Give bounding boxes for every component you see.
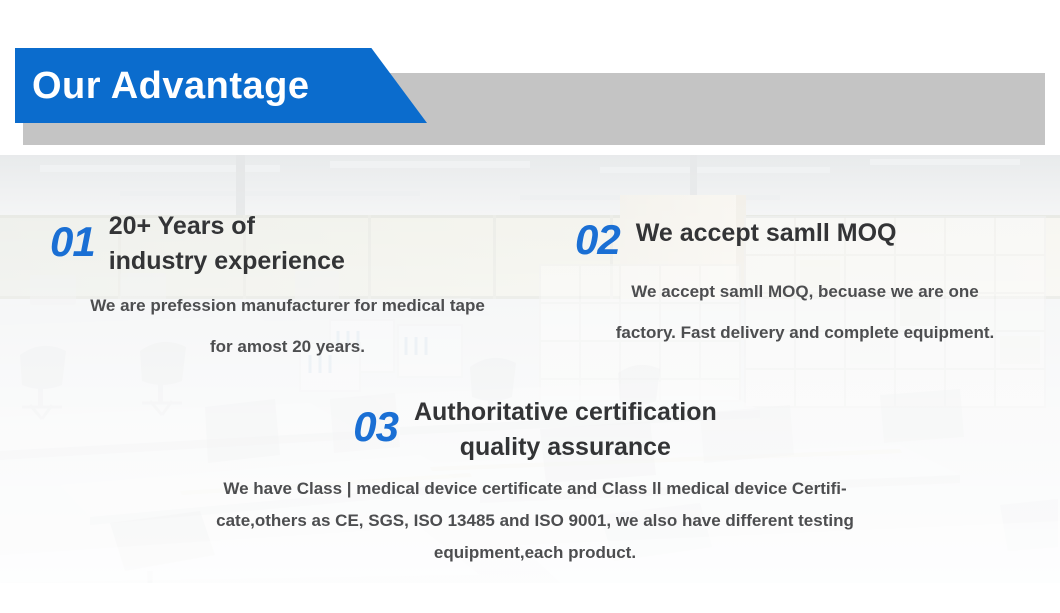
advantage-03-heading: Authoritative certification quality assu…: [414, 390, 717, 465]
advantage-02-body-line-1: We accept samll MOQ, becuase we are one: [575, 271, 1035, 312]
advantage-02-body: We accept samll MOQ, becuase we are one …: [575, 271, 1035, 353]
advantage-01-header: 01 20+ Years of industry experience: [50, 205, 525, 279]
advantage-content: 01 20+ Years of industry experience We a…: [0, 155, 1060, 583]
advantage-01-heading-line-1: 20+ Years of: [109, 209, 345, 244]
advantage-02-number: 02: [575, 219, 620, 261]
advantage-03-body-line-3: equipment,each product.: [140, 537, 930, 569]
advantage-03-number: 03: [353, 406, 398, 448]
advantage-page: Our Advantage: [0, 0, 1060, 613]
advantage-03-heading-line-1: Authoritative certification: [414, 395, 717, 430]
advantage-item-02: 02 We accept samll MOQ We accept samll M…: [575, 205, 1035, 353]
advantage-01-number: 01: [50, 221, 95, 263]
advantage-item-01: 01 20+ Years of industry experience We a…: [50, 205, 525, 367]
advantage-02-heading-line-1: We accept samll MOQ: [636, 216, 897, 251]
advantage-03-body: We have Class | medical device certifica…: [140, 473, 930, 569]
advantage-03-header: 03 Authoritative certification quality a…: [140, 390, 930, 465]
advantage-02-heading: We accept samll MOQ: [636, 205, 897, 251]
advantage-item-03: 03 Authoritative certification quality a…: [140, 390, 930, 569]
section-header: Our Advantage: [0, 0, 1060, 155]
advantage-03-heading-line-2: quality assurance: [414, 430, 717, 465]
advantage-01-body-line-2: for amost 20 years.: [50, 326, 525, 367]
advantage-01-heading-line-2: industry experience: [109, 244, 345, 279]
advantage-03-body-line-2: cate,others as CE, SGS, ISO 13485 and IS…: [140, 505, 930, 537]
advantage-03-body-line-1: We have Class | medical device certifica…: [140, 473, 930, 505]
advantage-01-body-line-1: We are prefession manufacturer for medic…: [50, 285, 525, 326]
page-title: Our Advantage: [32, 62, 309, 110]
advantage-01-heading: 20+ Years of industry experience: [109, 205, 345, 279]
advantage-02-body-line-2: factory. Fast delivery and complete equi…: [575, 312, 1035, 353]
advantage-01-body: We are prefession manufacturer for medic…: [50, 285, 525, 367]
advantage-02-header: 02 We accept samll MOQ: [575, 205, 1035, 261]
